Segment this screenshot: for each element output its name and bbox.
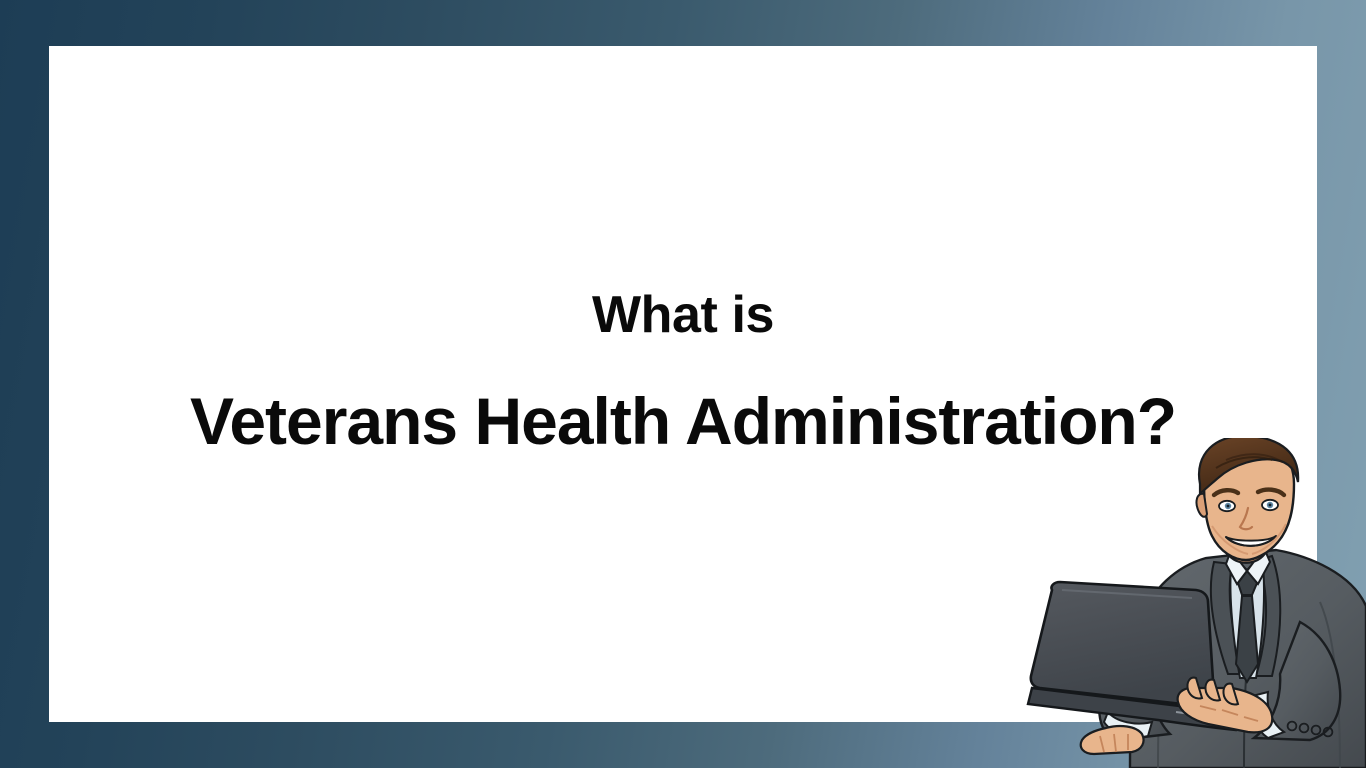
slide-canvas: What is Veterans Health Administration? [49, 46, 1317, 722]
title-line-question-lead: What is [49, 289, 1317, 342]
slide-stage: What is Veterans Health Administration? [0, 0, 1366, 768]
sleeve-buttons [1288, 722, 1333, 737]
title-line-subject: Veterans Health Administration? [49, 388, 1317, 455]
slide-title-block: What is Veterans Health Administration? [49, 46, 1317, 455]
